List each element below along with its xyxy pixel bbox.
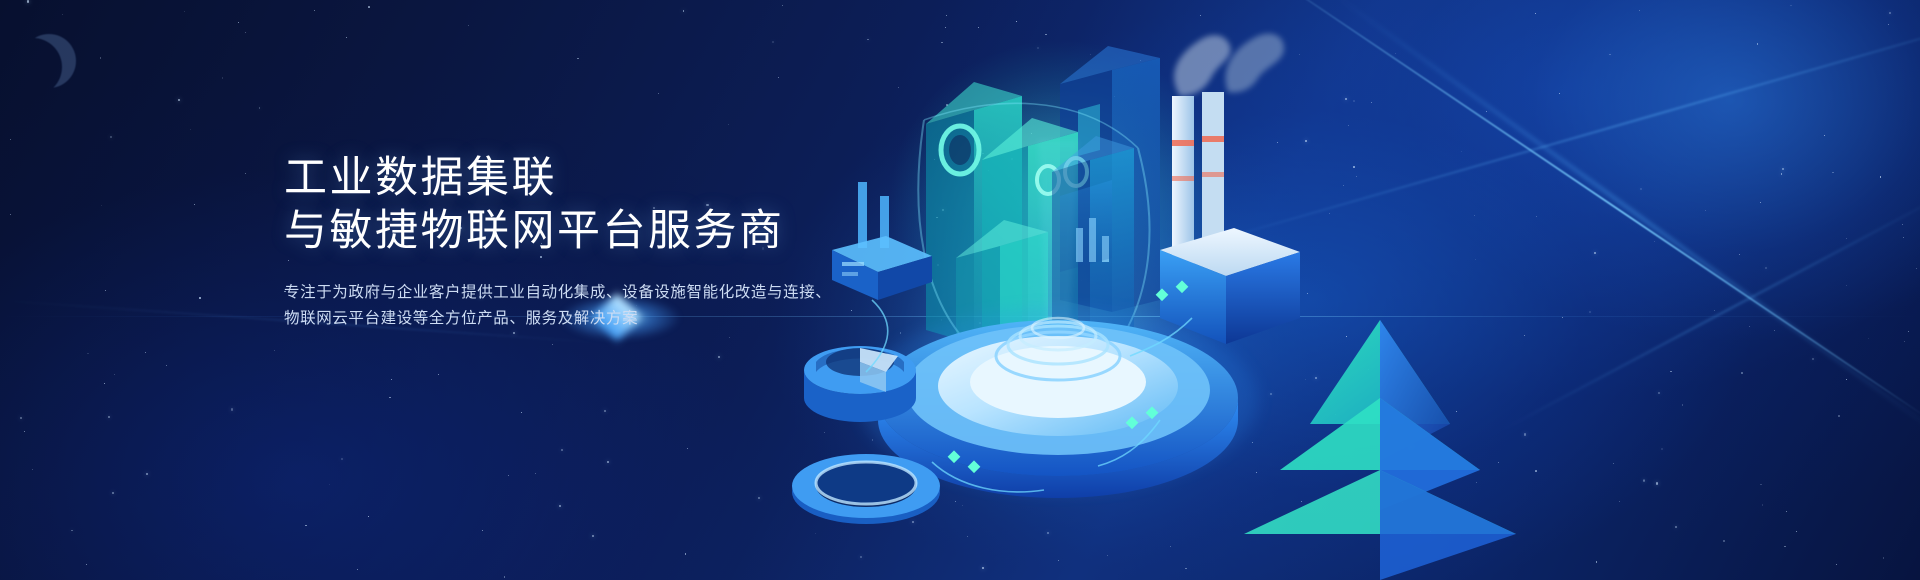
star-particle [389,397,391,399]
star-particle [199,297,200,298]
star-particle [658,93,659,94]
star-particle [238,22,239,23]
star-particle [577,58,579,60]
star-particle [184,11,185,12]
star-particle [521,412,522,413]
star-particle [314,10,316,12]
star-particle [346,37,347,38]
star-particle [10,214,11,215]
star-particle [604,410,606,412]
headline-line-2: 与敏捷物联网平台服务商 [284,205,904,258]
star-particle [194,204,195,205]
star-particle [685,553,686,554]
star-particle [552,344,553,345]
star-particle [222,77,224,79]
star-particle [438,374,439,375]
star-particle [87,353,89,355]
ring-base [792,454,940,524]
hero-text-block: 工业数据集联 与敏捷物联网平台服务商 专注于为政府与企业客户提供工业自动化集成、… [284,152,904,332]
star-particle [513,332,515,334]
isometric-industrial-iot-illustration [760,0,1920,580]
star-particle [178,99,180,101]
star-particle [341,458,343,460]
star-particle [468,25,469,26]
star-particle [718,356,720,358]
star-particle [20,417,22,419]
hero-subtitle: 专注于为政府与企业客户提供工业自动化集成、设备设施智能化改造与连接、 物联网云平… [284,280,904,332]
hero-banner: 工业数据集联 与敏捷物联网平台服务商 专注于为政府与企业客户提供工业自动化集成、… [0,0,1920,580]
star-particle [683,10,685,12]
star-particle [100,57,101,58]
star-particle [166,365,167,366]
star-particle [561,449,563,451]
star-particle [86,564,87,565]
star-particle [110,136,112,138]
star-particle [329,484,330,485]
star-particle [10,139,11,140]
star-particle [305,525,307,527]
star-particle [482,530,483,531]
star-particle [27,0,29,2]
star-particle [535,473,536,474]
star-particle [729,337,730,338]
star-particle [687,448,688,449]
star-particle [274,350,275,351]
star-particle [104,383,105,384]
star-particle [728,124,729,125]
star-particle [368,516,369,517]
headline-line-1: 工业数据集联 [284,152,904,205]
star-particle [259,107,261,109]
star-particle [62,14,63,15]
star-particle [508,475,509,476]
star-particle [71,530,73,532]
star-particle [391,379,392,380]
star-particle [146,473,148,475]
star-particle [24,431,25,432]
star-particle [368,6,370,8]
star-particle [357,569,358,570]
star-particle [105,290,106,291]
star-particle [231,408,233,410]
star-particle [101,205,103,207]
star-particle [559,505,561,507]
star-particle [108,416,110,418]
star-particle [245,32,247,34]
star-particle [114,374,115,375]
star-particle [32,469,33,470]
subtitle-line-1: 专注于为政府与企业客户提供工业自动化集成、设备设施智能化改造与连接、 [284,280,904,306]
star-particle [112,492,114,494]
bar-chart-panel [1060,180,1112,272]
star-particle [190,129,191,130]
cylinder-gauge [804,346,916,422]
star-particle [245,173,246,174]
star-particle [145,352,146,353]
star-particle [504,576,506,578]
star-particle [592,535,594,537]
moon-crescent-icon [22,34,76,88]
subtitle-line-2: 物联网云平台建设等全方位产品、服务及解决方案 [284,306,904,332]
star-particle [607,461,609,463]
